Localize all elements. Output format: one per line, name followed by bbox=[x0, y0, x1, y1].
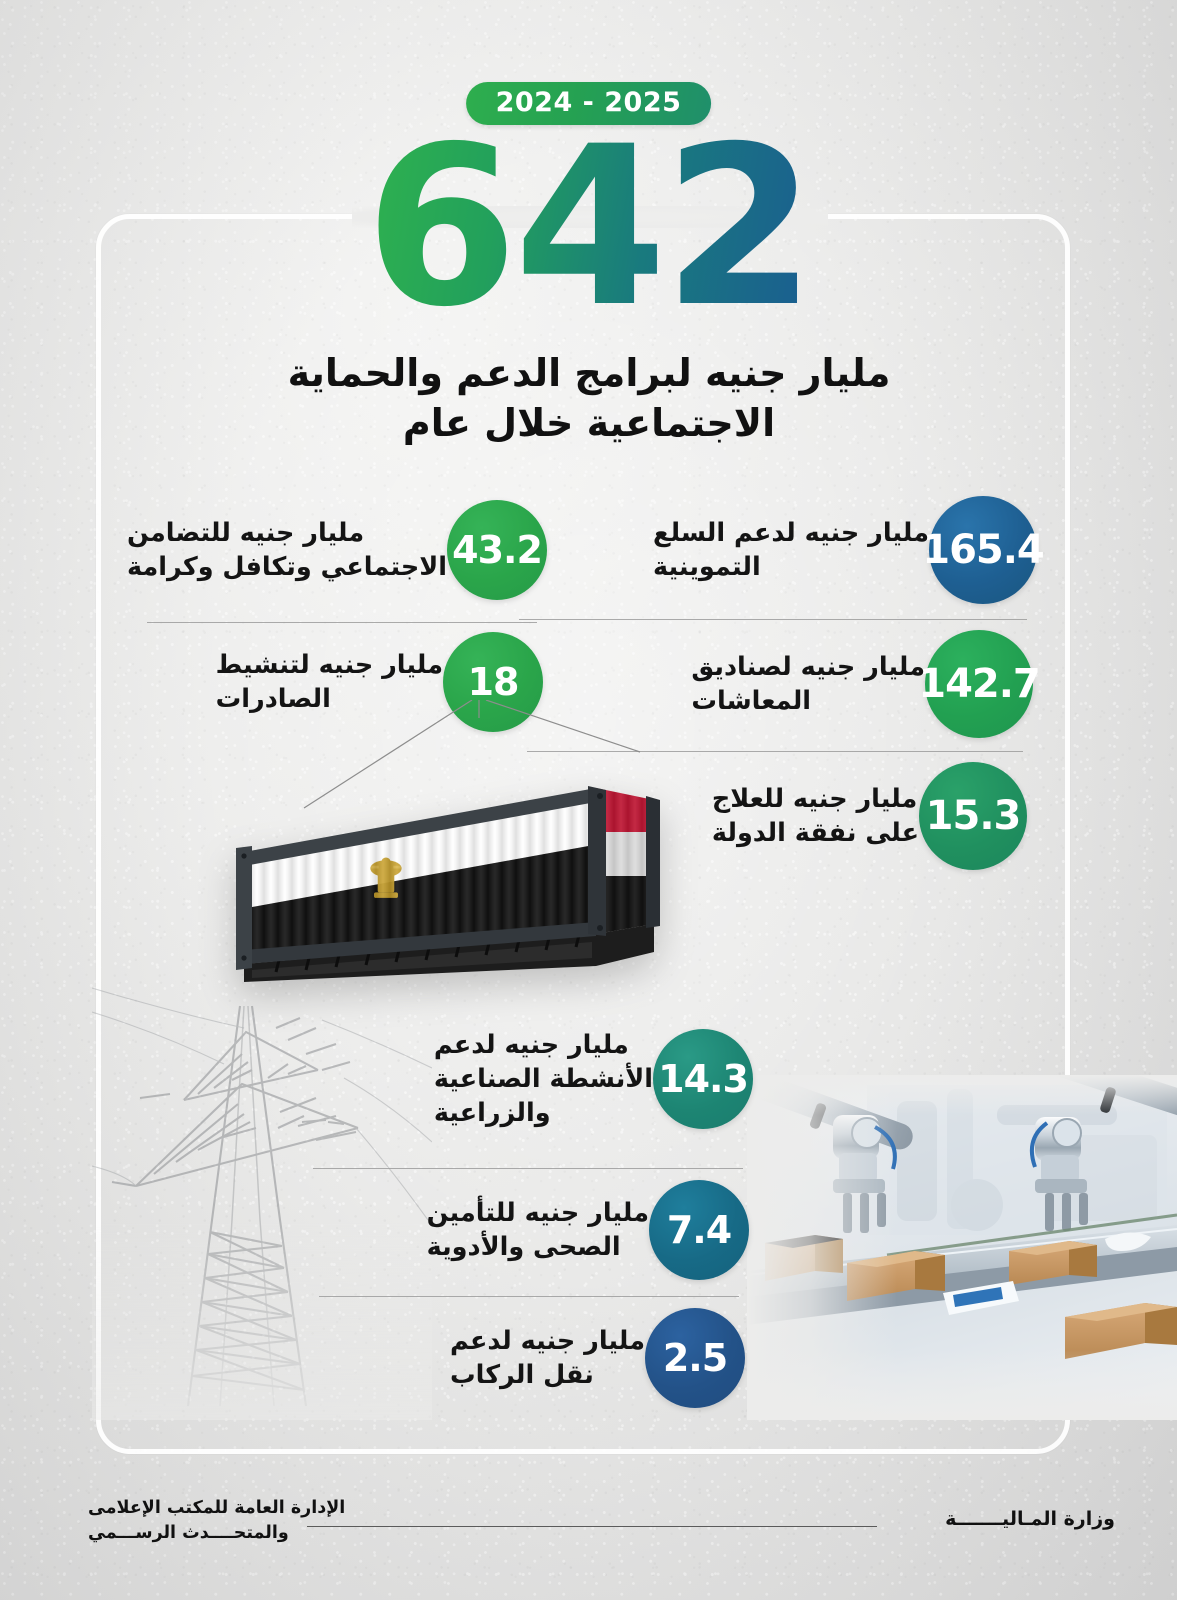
divider-lower-2 bbox=[319, 1296, 739, 1297]
stat-item-industrial-agricultural: 14.3 مليار جنيه لدعم الأنشطة الصناعية وا… bbox=[412, 1028, 753, 1130]
stat-caption-health-insurance: مليار جنيه للتأمين الصحى والأدوية bbox=[405, 1196, 649, 1264]
factory-fade-top bbox=[747, 1075, 1177, 1115]
stat-caption-pensions: مليار جنيه لصناديق المعاشات bbox=[669, 650, 925, 718]
page-title-line-2: الاجتماعية خلال عام bbox=[403, 401, 775, 445]
footer-media-office: الإدارة العامة للمكتب الإعلامى والمتحـــ… bbox=[88, 1496, 418, 1547]
stat-bubble-43-2: 43.2 bbox=[447, 500, 547, 600]
stat-bubble-14-3: 14.3 bbox=[653, 1029, 753, 1129]
headline-total-number: 642 bbox=[365, 124, 812, 331]
page-title-line-1: مليار جنيه لبرامج الدعم والحماية bbox=[288, 351, 891, 395]
stat-bubble-142-7: 142.7 bbox=[925, 630, 1033, 738]
stat-item-state-treatment: 15.3 مليار جنيه للعلاج على نفقة الدولة bbox=[690, 762, 1027, 870]
stat-item-pensions: 142.7 مليار جنيه لصناديق المعاشات bbox=[669, 630, 1033, 738]
stat-item-supply-goods: 165.4 مليار جنيه لدعم السلع التموينية bbox=[631, 496, 1037, 604]
stat-bubble-15-3: 15.3 bbox=[919, 762, 1027, 870]
footer-ministry: وزارة المـاليـــــــة bbox=[945, 1508, 1115, 1530]
stat-caption-supply-goods: مليار جنيه لدعم السلع التموينية bbox=[631, 516, 929, 584]
stat-bubble-7-4: 7.4 bbox=[649, 1180, 749, 1280]
divider-lower-1 bbox=[313, 1168, 743, 1169]
stat-item-social-solidarity: 43.2 مليار جنيه للتضامن الاجتماعي وتكافل… bbox=[105, 500, 547, 600]
factory-fade-bottom bbox=[747, 1350, 1177, 1420]
stat-bubble-2-5: 2.5 bbox=[645, 1308, 745, 1408]
stat-caption-industrial-agricultural: مليار جنيه لدعم الأنشطة الصناعية والزراع… bbox=[412, 1028, 653, 1130]
stat-item-passenger-transport: 2.5 مليار جنيه لدعم نقل الركاب bbox=[428, 1308, 745, 1408]
egyptian-flag-shipping-container bbox=[236, 756, 666, 986]
stat-caption-passenger-transport: مليار جنيه لدعم نقل الركاب bbox=[428, 1324, 645, 1392]
page-title: مليار جنيه لبرامج الدعم والحماية الاجتما… bbox=[239, 348, 939, 448]
robotic-arms-conveyor-photo bbox=[747, 1075, 1177, 1420]
divider-left-1 bbox=[147, 622, 537, 623]
stat-bubble-165-4: 165.4 bbox=[929, 496, 1037, 604]
stat-caption-state-treatment: مليار جنيه للعلاج على نفقة الدولة bbox=[690, 782, 919, 850]
divider-right-1 bbox=[519, 619, 1027, 620]
stat-item-health-insurance: 7.4 مليار جنيه للتأمين الصحى والأدوية bbox=[405, 1180, 749, 1280]
stat-caption-social-solidarity: مليار جنيه للتضامن الاجتماعي وتكافل وكرا… bbox=[105, 516, 447, 584]
electricity-transmission-pylon bbox=[92, 970, 432, 1420]
